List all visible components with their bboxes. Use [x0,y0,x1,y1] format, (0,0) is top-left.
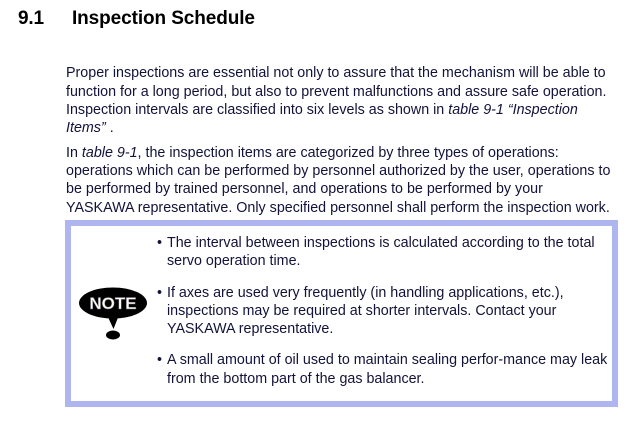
bullet-icon: • [157,351,162,369]
note-icon-label: NOTE [89,294,136,313]
note-bullet-list: • The interval between inspections is ca… [157,228,609,388]
note-speech-balloon-icon: NOTE [77,286,157,342]
list-item: • The interval between inspections is ca… [157,234,609,271]
note-callout-box: NOTE • The interval between inspections … [65,220,618,407]
paragraph-intro: Proper inspections are essential not onl… [66,64,614,137]
list-item-text: A small amount of oil used to maintain s… [167,351,609,388]
list-item: • If axes are used very frequently (in h… [157,284,609,339]
list-item-text: The interval between inspections is calc… [167,234,609,271]
list-item-text: If axes are used very frequently (in han… [167,284,609,339]
list-item: • A small amount of oil used to maintain… [157,351,609,388]
page-title: Inspection Schedule [72,8,255,30]
section-number: 9.1 [18,8,72,30]
paragraph-operations: In table 9-1, the inspection items are c… [66,144,611,217]
bullet-icon: • [157,284,162,302]
bullet-icon: • [157,234,162,252]
document-page: { "heading": { "number": "9.1", "title":… [0,0,637,436]
section-heading: 9.1 Inspection Schedule [0,8,637,30]
